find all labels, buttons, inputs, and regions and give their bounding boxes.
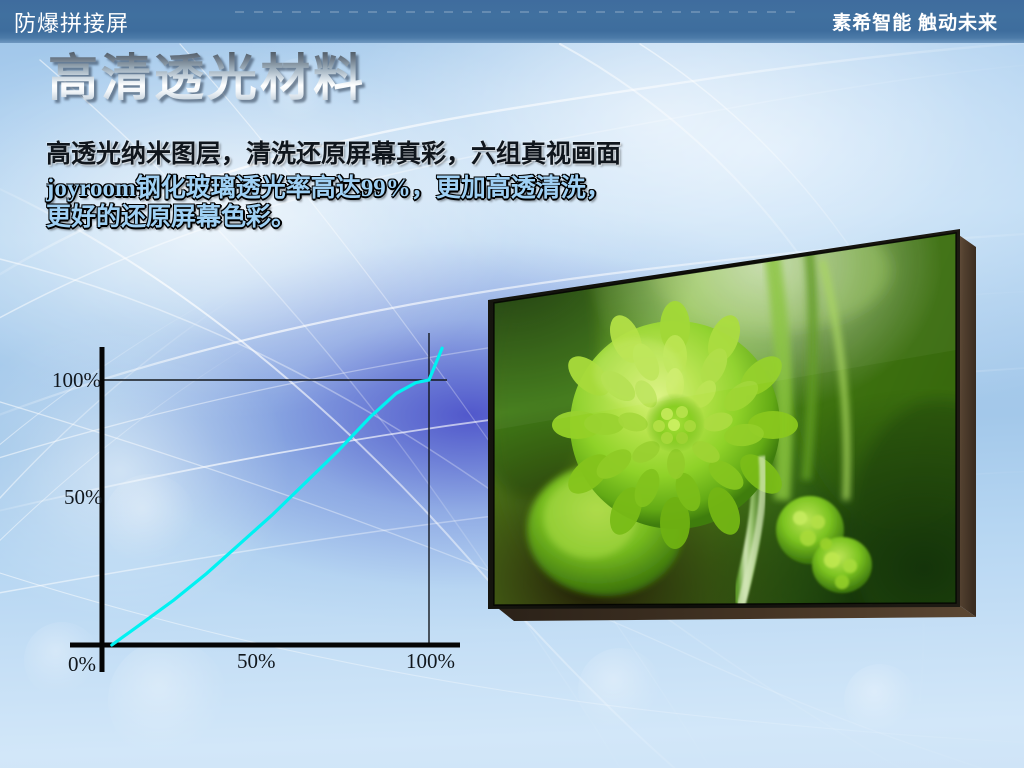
- x-axis-label-0: 0%: [68, 652, 96, 677]
- x-axis-label-100: 100%: [406, 649, 455, 674]
- video-wall-display-panel: [470, 200, 1000, 670]
- x-axis-label-50: 50%: [237, 649, 276, 674]
- transmittance-curve: [112, 348, 442, 645]
- y-axis-label-50: 50%: [64, 485, 103, 510]
- slide-canvas: 防爆拼接屏 素希智能 触动未来 高清透光材料 高透光纳米图层，清洗还原屏幕真彩，…: [0, 0, 1024, 768]
- y-axis-label-100: 100%: [52, 368, 101, 393]
